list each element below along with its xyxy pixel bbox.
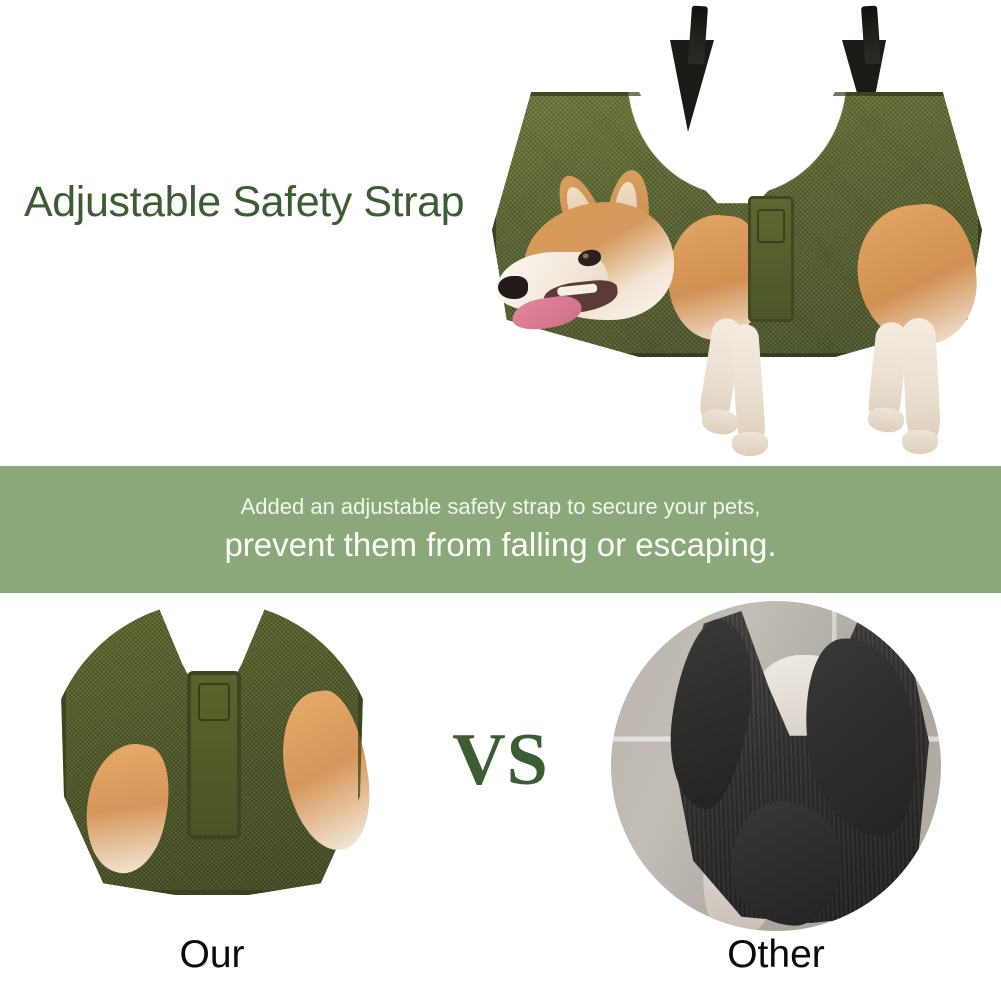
hero-section: Adjustable Safety Strap [0,0,1001,466]
dog-paw [732,432,768,456]
product-marketing-image: Adjustable Safety Strap [0,0,1001,988]
dog-nose [498,276,528,299]
page-title: Adjustable Safety Strap [24,178,464,227]
hanging-strap-right [861,6,881,65]
comparison-section: VS Our Other [0,593,1001,988]
caption-other: Other [611,933,941,977]
banner-line-2: prevent them from falling or escaping. [224,527,776,563]
dog-paw [902,430,938,454]
caption-our: Our [47,933,377,977]
banner-line-1: Added an adjustable safety strap to secu… [241,495,761,519]
dog-leg [901,317,941,441]
hero-product-photo [470,0,1001,466]
feature-banner: Added an adjustable safety strap to secu… [0,466,1001,593]
dog-paw [700,407,740,437]
comparison-image-other [611,601,941,931]
adjustable-safety-strap [748,196,794,322]
dog-head [490,178,705,348]
dog-paw [867,406,906,434]
